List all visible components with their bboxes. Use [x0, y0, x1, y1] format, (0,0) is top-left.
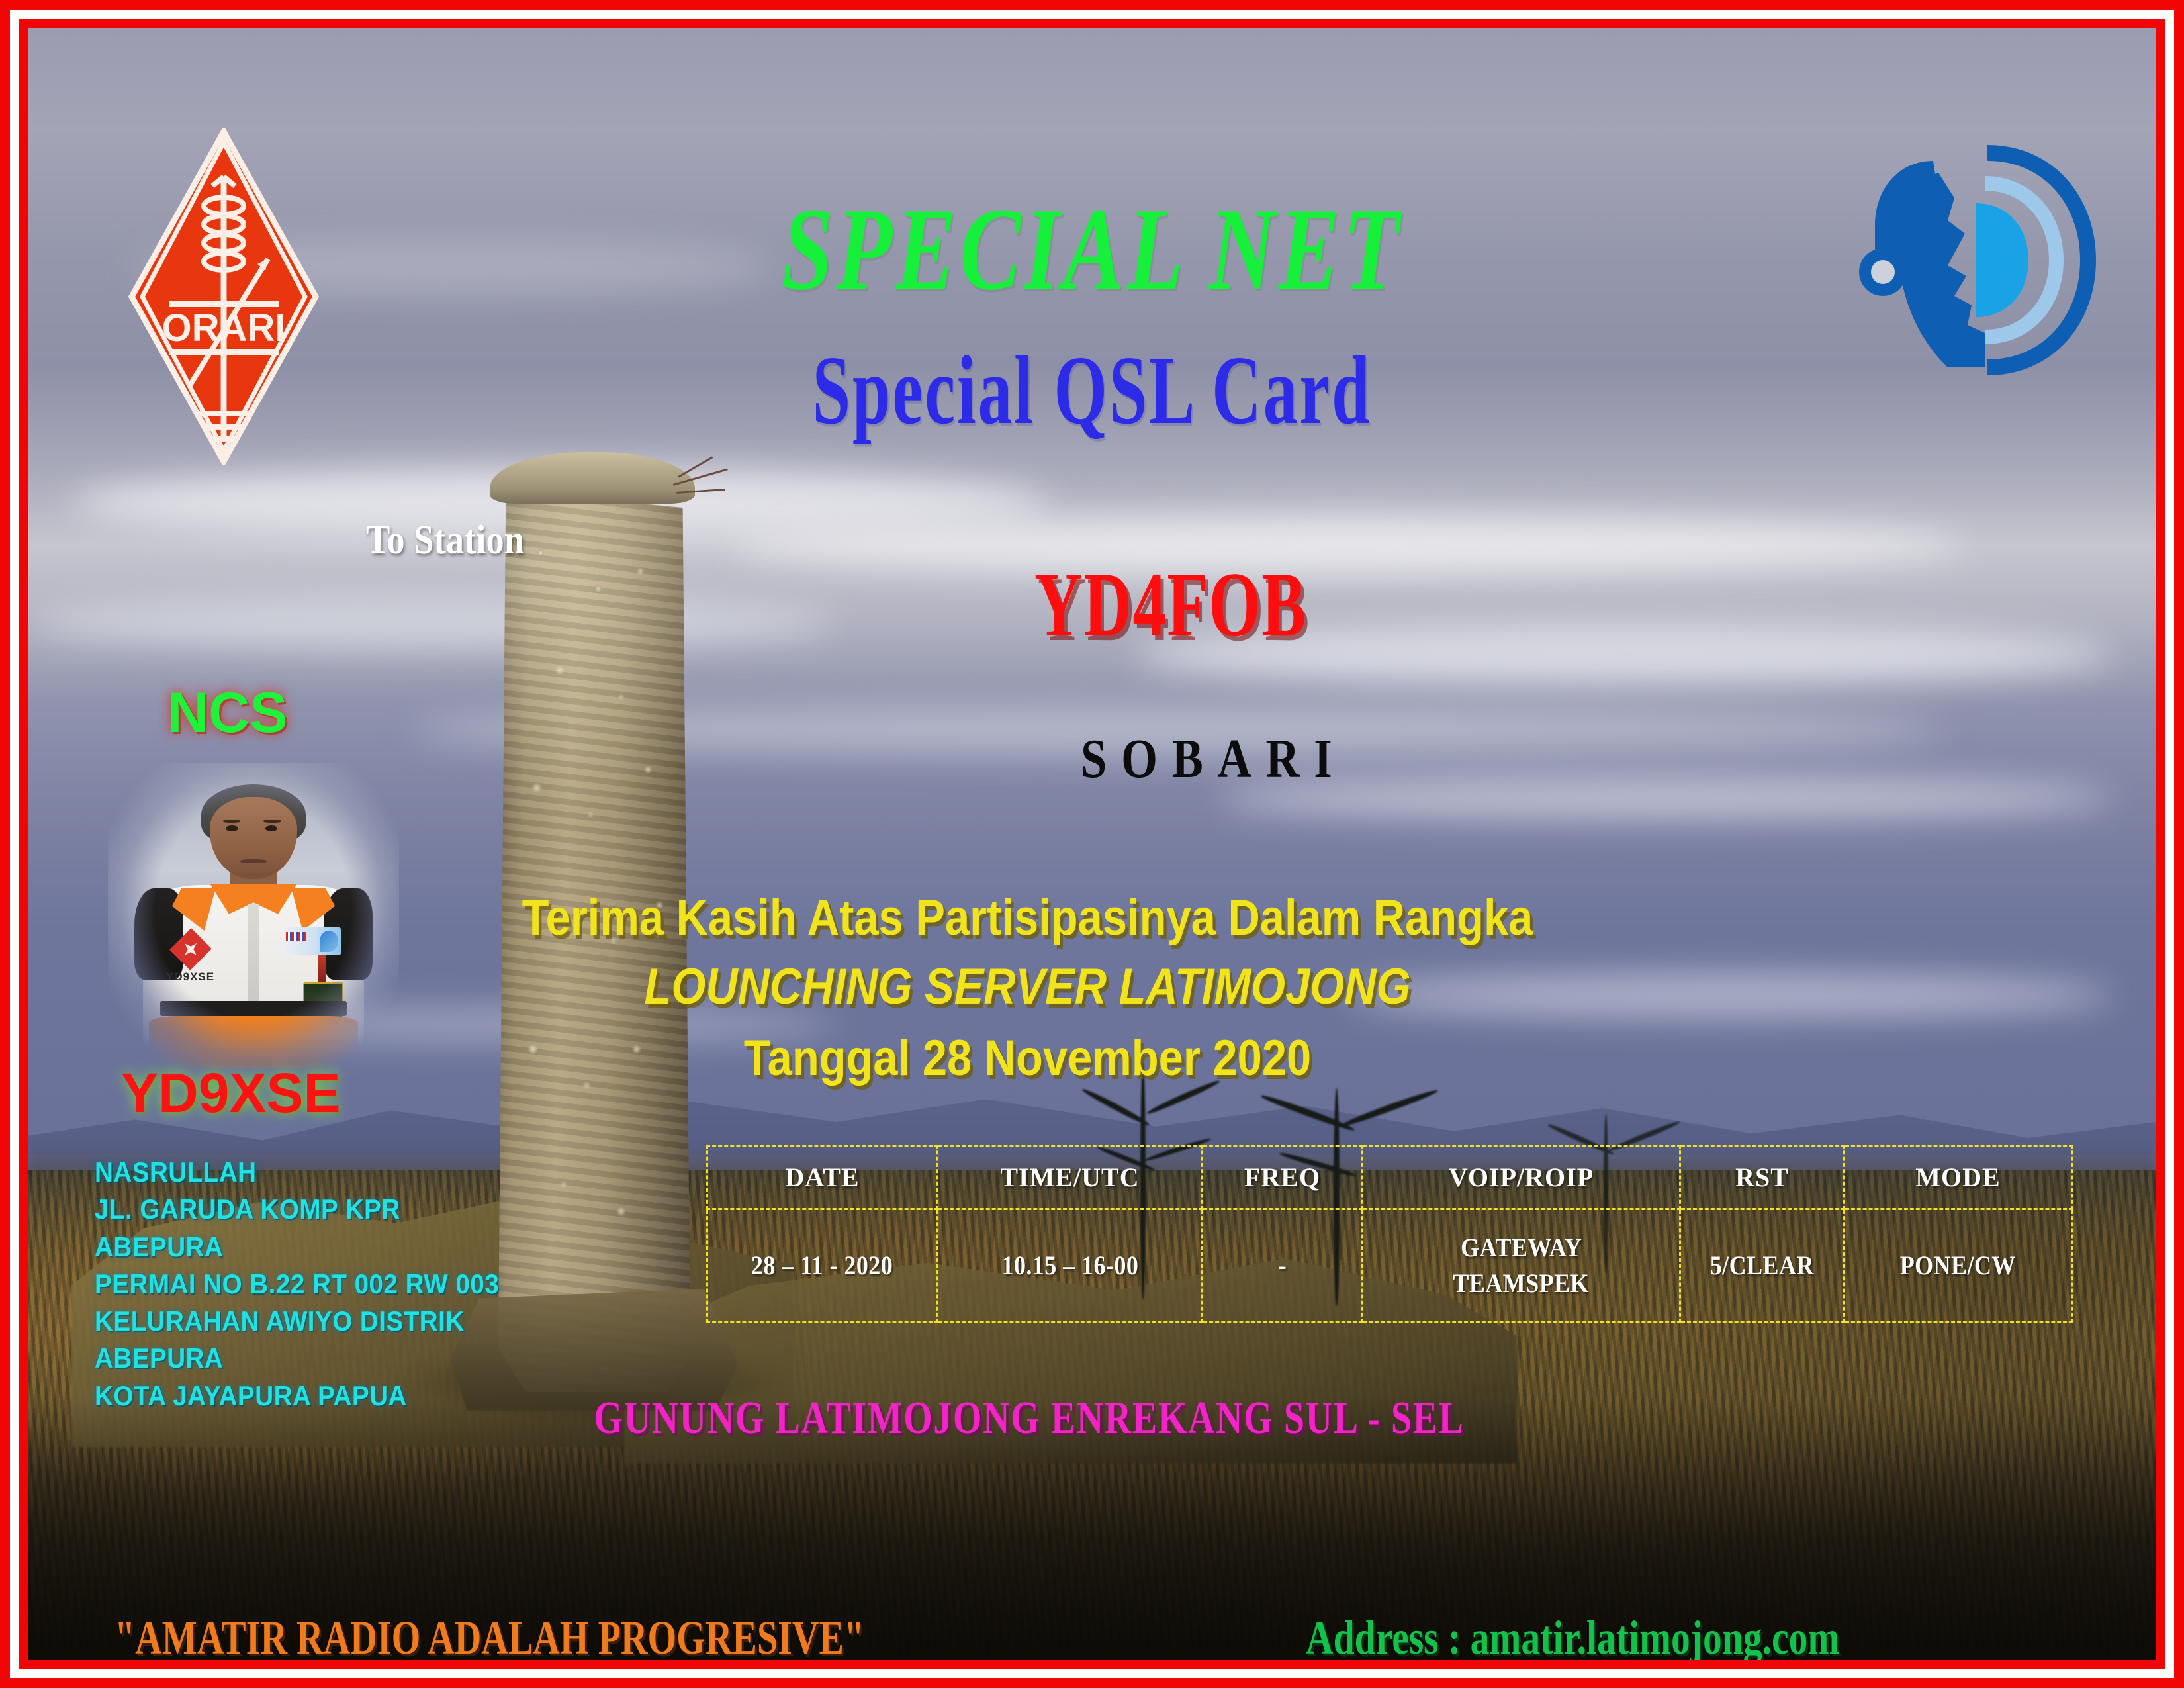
photo-shirt-callsign: YD9XSE: [166, 970, 214, 984]
column-header-mode: MODE: [1844, 1146, 2072, 1209]
column-header-date: DATE: [707, 1146, 938, 1209]
cell-rst-value: 5/CLEAR: [1710, 1248, 1814, 1284]
monument-cap: [490, 452, 695, 504]
column-header-voip-roip: VOIP/ROIP: [1363, 1146, 1680, 1209]
cell-date: 28 – 11 - 2020: [707, 1209, 938, 1322]
cell-voip-line-2: TEAMSPEK: [1453, 1266, 1590, 1301]
thanks-event-date: Tanggal 28 November 2020: [148, 1029, 1907, 1087]
address-line: ABEPURA: [95, 1340, 643, 1377]
cell-rst: 5/CLEAR: [1680, 1209, 1844, 1322]
photo-club-patch: [283, 927, 341, 955]
table-header-row: DATE TIME/UTC FREQ VOIP/ROIP RST MODE: [707, 1146, 2072, 1209]
card-background-photo: ORARI: [28, 28, 2156, 1660]
footer-web-address: Address : amatir.latimojong.com: [1306, 1611, 1839, 1660]
column-header-rst: RST: [1680, 1146, 1844, 1209]
photo-eyebrow: [263, 820, 281, 823]
cloud-band: [1220, 778, 2113, 818]
photo-lanyard: [318, 955, 326, 986]
cell-freq: -: [1203, 1209, 1363, 1322]
photo-eyebrow: [223, 820, 240, 823]
table-row: 28 – 11 - 2020 10.15 – 16-00 - GATEWAY T…: [707, 1209, 2072, 1322]
sound-wave-inner: [1976, 203, 2028, 317]
ncs-label: NCS: [167, 680, 288, 746]
ncs-operator-photo: YD9XSE: [108, 763, 399, 1068]
location-line: GUNUNG LATIMOJONG ENREKANG SUL - SEL: [228, 1392, 1829, 1445]
column-header-time-utc: TIME/UTC: [938, 1146, 1203, 1209]
station-address-block: NASRULLAH JL. GARUDA KOMP KPR ABEPURA PE…: [95, 1154, 643, 1415]
address-line: NASRULLAH: [95, 1154, 643, 1191]
cell-time-value: 10.15 – 16-00: [1001, 1248, 1138, 1284]
thanks-event-title: LOUNCHING SERVER LATIMOJONG: [148, 958, 1907, 1015]
address-line: ABEPURA: [95, 1229, 643, 1266]
photo-mouth: [240, 859, 267, 863]
cell-date-value: 28 – 11 - 2020: [751, 1248, 893, 1284]
cloud-band: [731, 518, 1964, 573]
footer-motto: "AMATIR RADIO ADALAH PROGRESIVE": [114, 1611, 864, 1660]
cell-voip-roip: GATEWAY TEAMSPEK: [1363, 1209, 1680, 1322]
cell-mode-value: PONE/CW: [1900, 1248, 2016, 1284]
cloud-band: [28, 599, 837, 648]
operator-name: SOBARI: [1081, 727, 1347, 791]
qsl-card: ORARI: [0, 0, 2184, 1688]
headline-special-net: SPECIAL NET: [263, 181, 1922, 317]
photo-shirt-lower-orange: [149, 1016, 359, 1068]
photo-shirt-waist-band: [160, 1001, 347, 1016]
address-line: PERMAI NO B.22 RT 002 RW 003: [95, 1266, 643, 1303]
to-station-label: To Station: [366, 517, 524, 564]
monument-antenna-wires: [673, 461, 730, 527]
thanks-line-1: Terima Kasih Atas Partisipasinya Dalam R…: [148, 889, 1907, 947]
headline-special-qsl-card: Special QSL Card: [347, 334, 1837, 447]
cell-voip-line-1: GATEWAY: [1461, 1230, 1582, 1266]
ncs-callsign: YD9XSE: [121, 1061, 341, 1125]
qso-details-table: DATE TIME/UTC FREQ VOIP/ROIP RST MODE 28…: [706, 1145, 2073, 1323]
cell-mode: PONE/CW: [1844, 1209, 2072, 1322]
cell-freq-value: -: [1278, 1248, 1286, 1284]
card-frame-white-gap: ORARI: [10, 10, 2174, 1678]
cell-time-utc: 10.15 – 16-00: [938, 1209, 1203, 1322]
address-line: KELURAHAN AWIYO DISTRIK: [95, 1303, 643, 1340]
to-station-callsign: YD4FOB: [1034, 551, 1307, 658]
address-line: JL. GARUDA KOMP KPR: [95, 1191, 643, 1228]
column-header-freq: FREQ: [1203, 1146, 1363, 1209]
card-frame-inner-red: ORARI: [19, 19, 2165, 1669]
